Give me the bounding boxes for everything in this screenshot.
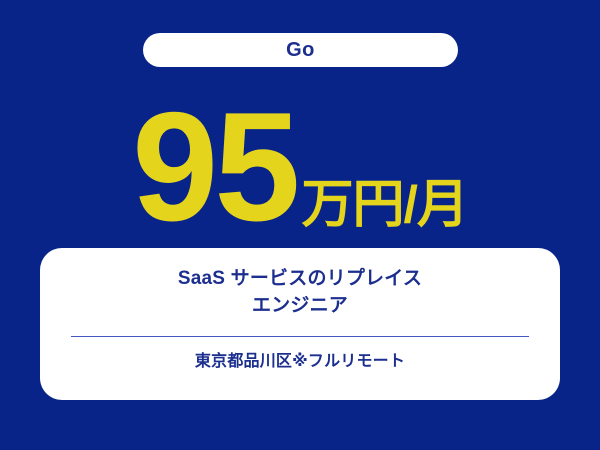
go-badge[interactable]: Go <box>143 33 458 67</box>
job-title-line-1: SaaS サービスのリプレイス <box>64 266 536 293</box>
price-amount: 95 <box>132 103 296 230</box>
job-location: 東京都品川区※フルリモート <box>195 352 405 373</box>
card-divider <box>71 336 529 337</box>
job-card-page: { "theme": { "background_color": "#08248… <box>0 0 600 450</box>
go-badge-label: Go <box>286 40 315 60</box>
job-title-line-2: エンジニア <box>64 293 536 320</box>
price-unit: 万円/月 <box>296 182 467 230</box>
job-title: SaaS サービスのリプレイス エンジニア <box>40 266 560 320</box>
price-headline: 95 万円/月 <box>0 100 600 230</box>
job-info-card[interactable]: SaaS サービスのリプレイス エンジニア 東京都品川区※フルリモート <box>40 248 560 400</box>
